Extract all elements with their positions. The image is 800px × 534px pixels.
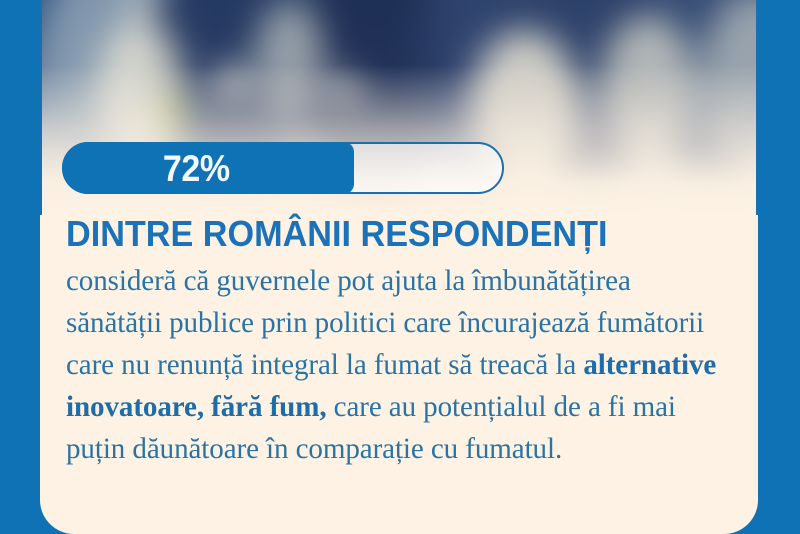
body-paragraph: consideră că guvernele pot ajuta la îmbu… [66, 260, 730, 470]
cream-card: 72% DINTRE ROMÂNII RESPONDENȚI consideră… [40, 0, 758, 534]
stat-progress-bar: 72% [62, 142, 504, 194]
infographic-poster: 72% DINTRE ROMÂNII RESPONDENȚI consideră… [0, 0, 800, 534]
headline: DINTRE ROMÂNII RESPONDENȚI [66, 214, 706, 254]
text-content: DINTRE ROMÂNII RESPONDENȚI consideră că … [66, 214, 740, 470]
progress-percent-label: 72% [163, 150, 230, 187]
progress-fill: 72% [62, 142, 354, 194]
